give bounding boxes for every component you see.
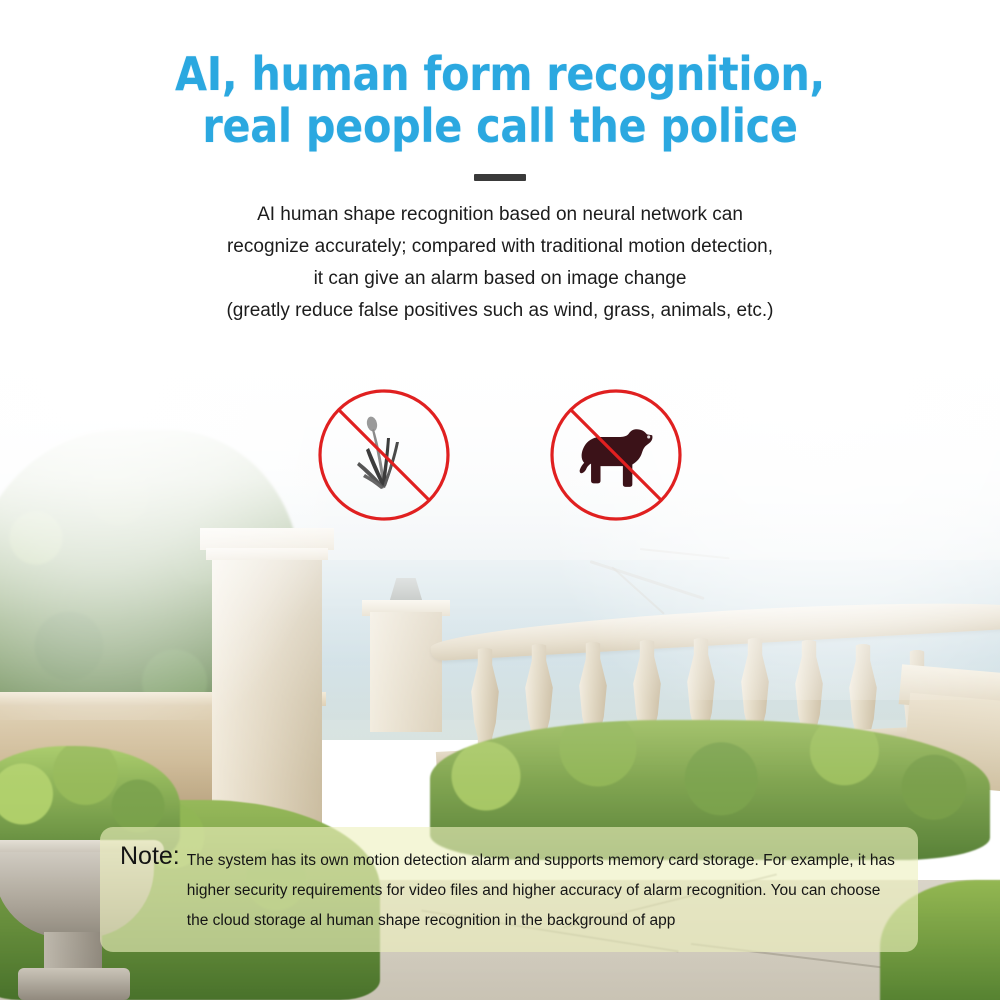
note-text: The system has its own motion detection …	[187, 841, 898, 936]
header: AI, human form recognition, real people …	[0, 0, 1000, 327]
exclusion-icons	[0, 386, 1000, 526]
no-dog-badge	[547, 386, 685, 524]
no-grass-badge	[315, 386, 453, 524]
promo-page: AI, human form recognition, real people …	[0, 0, 1000, 1000]
page-title: AI, human form recognition, real people …	[0, 0, 1000, 152]
page-title-line-1: AI, human form recognition,	[175, 47, 825, 101]
lead-line: (greatly reduce false positives such as …	[120, 295, 880, 327]
title-divider	[474, 174, 526, 181]
note-label: Note:	[120, 841, 187, 871]
lead-paragraph: AI human shape recognition based on neur…	[120, 199, 880, 327]
page-title-line-2: real people call the police	[0, 100, 1000, 152]
prohibition-ring-icon	[547, 386, 685, 524]
note-box: Note: The system has its own motion dete…	[100, 827, 918, 952]
prohibition-ring-icon	[315, 386, 453, 524]
lead-line: it can give an alarm based on image chan…	[120, 263, 880, 295]
lead-line: AI human shape recognition based on neur…	[120, 199, 880, 231]
lead-line: recognize accurately; compared with trad…	[120, 231, 880, 263]
